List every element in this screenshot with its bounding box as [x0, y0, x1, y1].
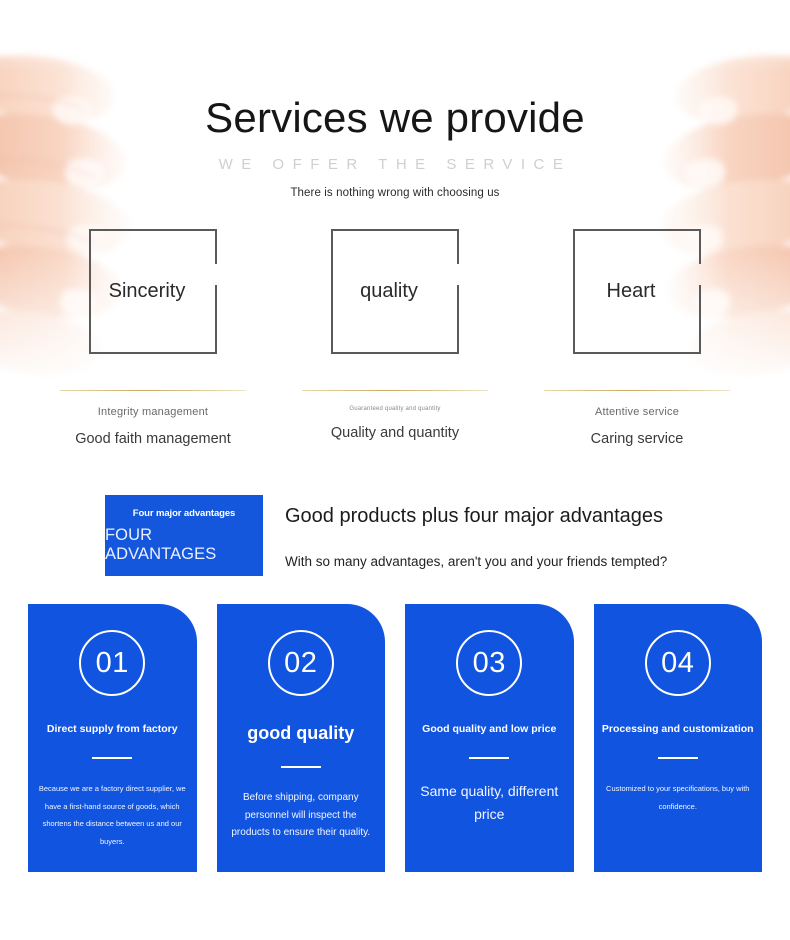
advantage-card-04[interactable]: 04 Processing and customization Customiz… [594, 604, 763, 872]
service-gold-divider [302, 390, 488, 391]
services-page: Services we provide WE OFFER THE SERVICE… [0, 0, 790, 940]
badge-large-label: FOUR ADVANTAGES [105, 526, 263, 564]
service-item-heart: Heart Attentive service Caring service [544, 229, 730, 447]
advantage-card-body: Before shipping, company personnel will … [217, 789, 386, 842]
advantage-card-body: Because we are a factory direct supplier… [28, 780, 197, 851]
advantage-card-rule [469, 757, 509, 760]
advantage-card-title: Good quality and low price [414, 723, 564, 736]
frame-edge-left [89, 229, 91, 354]
advantage-number-badge: 01 [79, 630, 145, 696]
advantage-card-title: good quality [239, 723, 362, 745]
frame-edge-bottom [331, 352, 459, 354]
frame-edge-right-bottom [215, 285, 217, 354]
frame-edge-right-bottom [457, 285, 459, 354]
frame-edge-top [89, 229, 217, 231]
frame-edge-left [331, 229, 333, 354]
advantage-card-body: Customized to your specifications, buy w… [594, 780, 763, 815]
frame-edge-right-top [215, 229, 217, 264]
service-caption-large: Caring service [591, 431, 684, 447]
advantage-card-rule [92, 757, 132, 760]
four-advantages-badge: Four major advantages FOUR ADVANTAGES [105, 495, 263, 576]
advantage-number-badge: 04 [645, 630, 711, 696]
frame-edge-bottom [573, 352, 701, 354]
frame-edge-right-top [457, 229, 459, 264]
advantages-subheading: With so many advantages, aren't you and … [285, 554, 667, 569]
advantages-heading: Good products plus four major advantages [285, 505, 667, 528]
service-frame-label: quality [360, 280, 418, 303]
page-tagline: There is nothing wrong with choosing us [0, 187, 790, 199]
frame-edge-right-bottom [699, 285, 701, 354]
frame-edge-bottom [89, 352, 217, 354]
service-frame-sincerity: Sincerity [89, 229, 217, 354]
advantage-number-badge: 03 [456, 630, 522, 696]
advantage-number-badge: 02 [268, 630, 334, 696]
service-caption-small: Integrity management [98, 406, 208, 418]
advantage-cards-list: 01 Direct supply from factory Because we… [0, 604, 790, 872]
advantages-banner-text: Good products plus four major advantages… [285, 503, 667, 569]
service-caption-large: Good faith management [75, 431, 231, 447]
service-caption-large: Quality and quantity [331, 425, 459, 441]
advantage-card-title: Direct supply from factory [39, 723, 186, 736]
service-frame-quality: quality [331, 229, 459, 354]
service-item-sincerity: Sincerity Integrity management Good fait… [60, 229, 246, 447]
badge-small-label: Four major advantages [133, 508, 235, 519]
page-subtitle: WE OFFER THE SERVICE [0, 156, 790, 173]
advantage-card-03[interactable]: 03 Good quality and low price Same quali… [405, 604, 574, 872]
service-caption-small: Attentive service [595, 406, 679, 418]
services-list: Sincerity Integrity management Good fait… [0, 229, 790, 447]
frame-edge-right-top [699, 229, 701, 264]
service-frame-heart: Heart [573, 229, 701, 354]
service-item-quality: quality Guaranteed quality and quantity … [302, 229, 488, 447]
service-frame-label: Sincerity [109, 280, 186, 303]
frame-edge-top [573, 229, 701, 231]
service-frame-label: Heart [607, 280, 656, 303]
advantage-card-body: Same quality, different price [405, 780, 574, 825]
service-gold-divider [544, 390, 730, 391]
page-title: Services we provide [0, 96, 790, 140]
frame-edge-left [573, 229, 575, 354]
advantage-card-02[interactable]: 02 good quality Before shipping, company… [217, 604, 386, 872]
advantage-card-rule [281, 766, 321, 769]
advantage-card-01[interactable]: 01 Direct supply from factory Because we… [28, 604, 197, 872]
service-caption-small: Guaranteed quality and quantity [349, 406, 440, 412]
advantages-banner: Four major advantages FOUR ADVANTAGES Go… [0, 495, 790, 576]
service-gold-divider [60, 390, 246, 391]
advantage-card-title: Processing and customization [594, 723, 762, 736]
page-header: Services we provide WE OFFER THE SERVICE… [0, 0, 790, 199]
frame-edge-top [331, 229, 459, 231]
advantage-card-rule [658, 757, 698, 760]
